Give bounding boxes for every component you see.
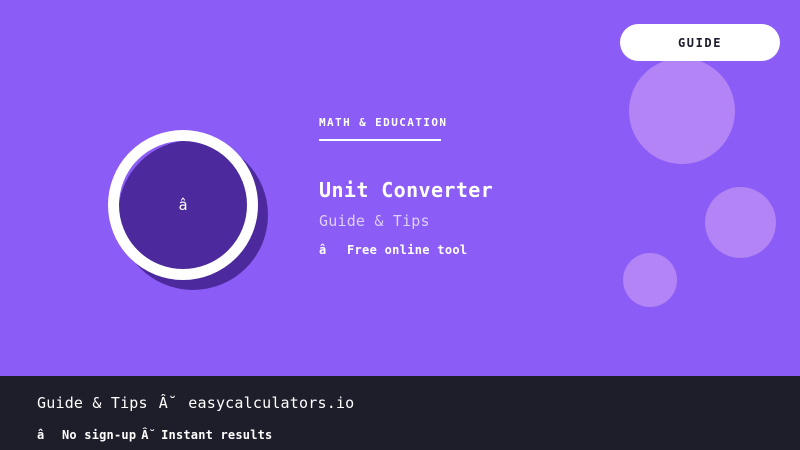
eyebrow-divider xyxy=(319,139,441,141)
decorative-circle-medium xyxy=(705,187,776,258)
tagline-separator-icon: Â˘ xyxy=(141,428,156,442)
tagline-bullet-icon: â xyxy=(37,428,62,442)
tagline-first: No sign-up xyxy=(62,428,136,442)
feature-label: Free online tool xyxy=(347,243,467,257)
badge-ring: â xyxy=(108,130,258,280)
guide-button[interactable]: GUIDE xyxy=(620,24,780,61)
page-title: Unit Converter xyxy=(319,179,619,202)
promo-card: GUIDE â MATH & EDUCATION Unit Converter … xyxy=(0,0,800,450)
footer-brand: Guide & Tips xyxy=(37,394,148,412)
decorative-circle-small xyxy=(623,253,677,307)
badge-glyph-icon: â xyxy=(178,198,187,213)
footer-site-url[interactable]: easycalculators.io xyxy=(188,394,354,412)
feature-item: â Free online tool xyxy=(319,243,619,257)
check-bullet-icon: â xyxy=(319,243,347,257)
page-subtitle: Guide & Tips xyxy=(319,213,619,230)
footer-tagline-row: â No sign-up Â˘ Instant results xyxy=(37,428,272,442)
badge: â xyxy=(108,130,258,280)
content-column: MATH & EDUCATION Unit Converter Guide & … xyxy=(319,116,619,257)
footer-separator-icon: Â˘ xyxy=(159,394,177,412)
category-eyebrow: MATH & EDUCATION xyxy=(319,116,619,129)
footer-bar: Guide & Tips Â˘ easycalculators.io â No … xyxy=(0,376,800,450)
decorative-circle-large xyxy=(629,58,735,164)
tagline-second: Instant results xyxy=(161,428,272,442)
footer-brand-row: Guide & Tips Â˘ easycalculators.io xyxy=(37,394,354,412)
